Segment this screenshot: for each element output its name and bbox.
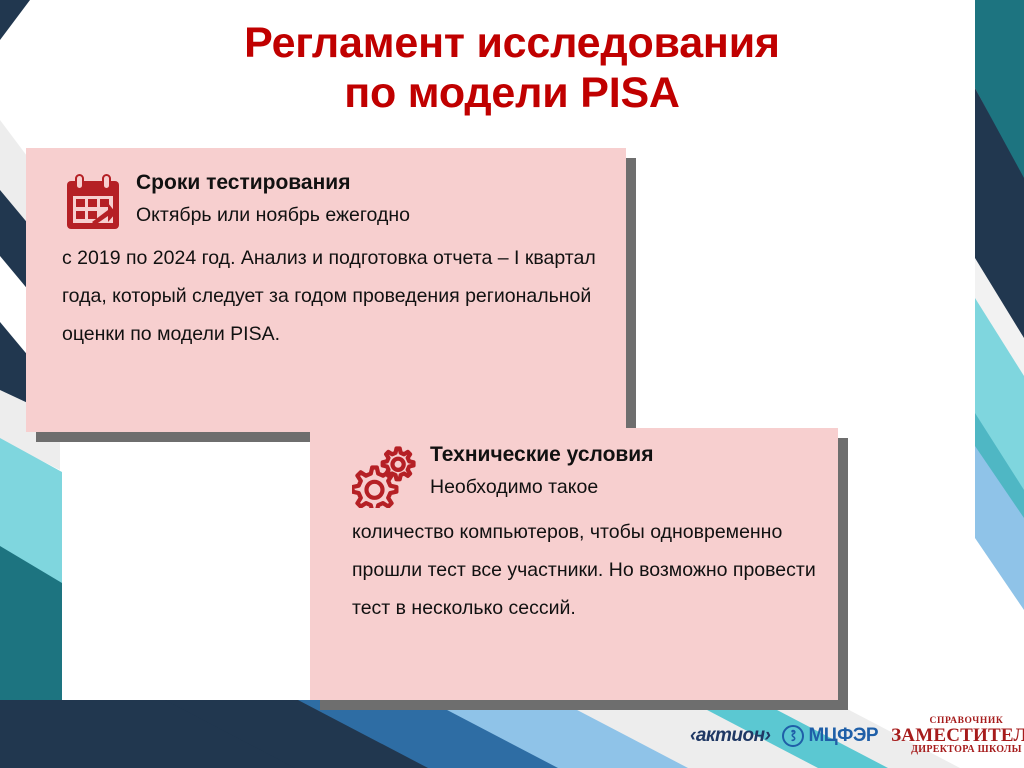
title-line-1: Регламент исследования [0, 18, 1024, 68]
card-deadlines-textblock: Сроки тестирования Октябрь или ноябрь еж… [136, 170, 606, 234]
spravochnik-logo: СПРАВОЧНИК ЗАМЕСТИТЕЛЯ ДИРЕКТОРА ШКОЛЫ [891, 717, 1024, 756]
calendar-check-icon [62, 172, 124, 239]
card-deadlines-body-inline: Октябрь или ноябрь ежегодно [136, 204, 410, 226]
card-deadlines-head: Сроки тестирования Октябрь или ноябрь еж… [26, 148, 626, 239]
card-technical-heading: Технические условия [430, 442, 820, 468]
card-technical-body-inline: Необходимо такое [430, 476, 598, 498]
gears-icon [352, 446, 420, 513]
card-technical: Технические условия Необходимо такое кол… [310, 428, 838, 700]
spravochnik-line-3: ДИРЕКТОРА ШКОЛЫ [891, 745, 1024, 755]
slide-title: Регламент исследования по модели PISA [0, 18, 1024, 118]
card-technical-head: Технические условия Необходимо такое [310, 428, 838, 513]
card-technical-textblock: Технические условия Необходимо такое [430, 442, 820, 506]
card-deadlines-heading: Сроки тестирования [136, 170, 606, 196]
mcfer-mark-icon [782, 725, 804, 747]
card-deadlines: Сроки тестирования Октябрь или ноябрь еж… [26, 148, 626, 432]
title-line-2: по модели PISA [0, 68, 1024, 118]
card-deadlines-body-rest: с 2019 по 2024 год. Анализ и подготовка … [26, 239, 626, 353]
aktion-logo: ‹актион› [690, 725, 770, 747]
card-technical-body-rest: количество компьютеров, чтобы одновремен… [310, 513, 838, 627]
footer-logo-bar: ‹актион› МЦФЭР СПРАВОЧНИК ЗАМЕСТИТЕЛЯ ДИ… [690, 712, 1020, 760]
spravochnik-line-2: ЗАМЕСТИТЕЛЯ [891, 726, 1024, 745]
mcfer-label: МЦФЭР [808, 725, 878, 747]
mcfer-logo: МЦФЭР [782, 725, 878, 747]
